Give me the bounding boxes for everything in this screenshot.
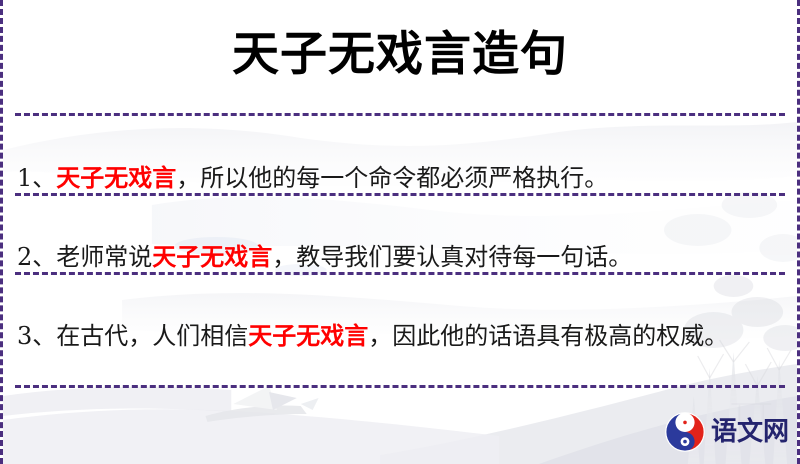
list-item: 3、在古代，人们相信天子无戏言，因此他的话语具有极高的权威。 [17, 316, 789, 356]
sentence-index: 2、 [17, 243, 56, 271]
keyword-highlight: 天子无戏言 [56, 163, 176, 192]
page-title-container: 天子无戏言造句 [3, 0, 797, 108]
worksheet-page: 天子无戏言造句 1、天子无戏言，所以他的每一个命令都必须严格执行。 2、老师常说… [0, 0, 800, 464]
list-item: 1、天子无戏言，所以他的每一个命令都必须严格执行。 [17, 158, 789, 198]
separator-rule-4 [15, 385, 785, 388]
separator-rule-2 [15, 193, 785, 196]
site-logo-text: 语文网 [711, 419, 789, 445]
list-item: 2、老师常说天子无戏言，教导我们要认真对待每一句话。 [17, 237, 789, 277]
site-logo[interactable]: 语文网 [665, 412, 789, 452]
sentence-suffix: ，因此他的话语具有极高的权威。 [368, 322, 728, 350]
sentence-prefix: 在古代，人们相信 [56, 322, 248, 350]
sentence-prefix: 老师常说 [56, 243, 152, 271]
keyword-highlight: 天子无戏言 [152, 242, 272, 271]
sentence-index: 3、 [17, 322, 56, 350]
taiji-fish-logo-icon [665, 412, 705, 452]
page-title: 天子无戏言造句 [232, 31, 568, 78]
separator-rule-3 [15, 272, 785, 275]
sentence-suffix: ，教导我们要认真对待每一句话。 [272, 243, 632, 271]
sentence-index: 1、 [17, 164, 56, 192]
keyword-highlight: 天子无戏言 [248, 321, 368, 350]
sentence-suffix: ，所以他的每一个命令都必须严格执行。 [176, 164, 608, 192]
separator-rule-1 [15, 113, 785, 116]
